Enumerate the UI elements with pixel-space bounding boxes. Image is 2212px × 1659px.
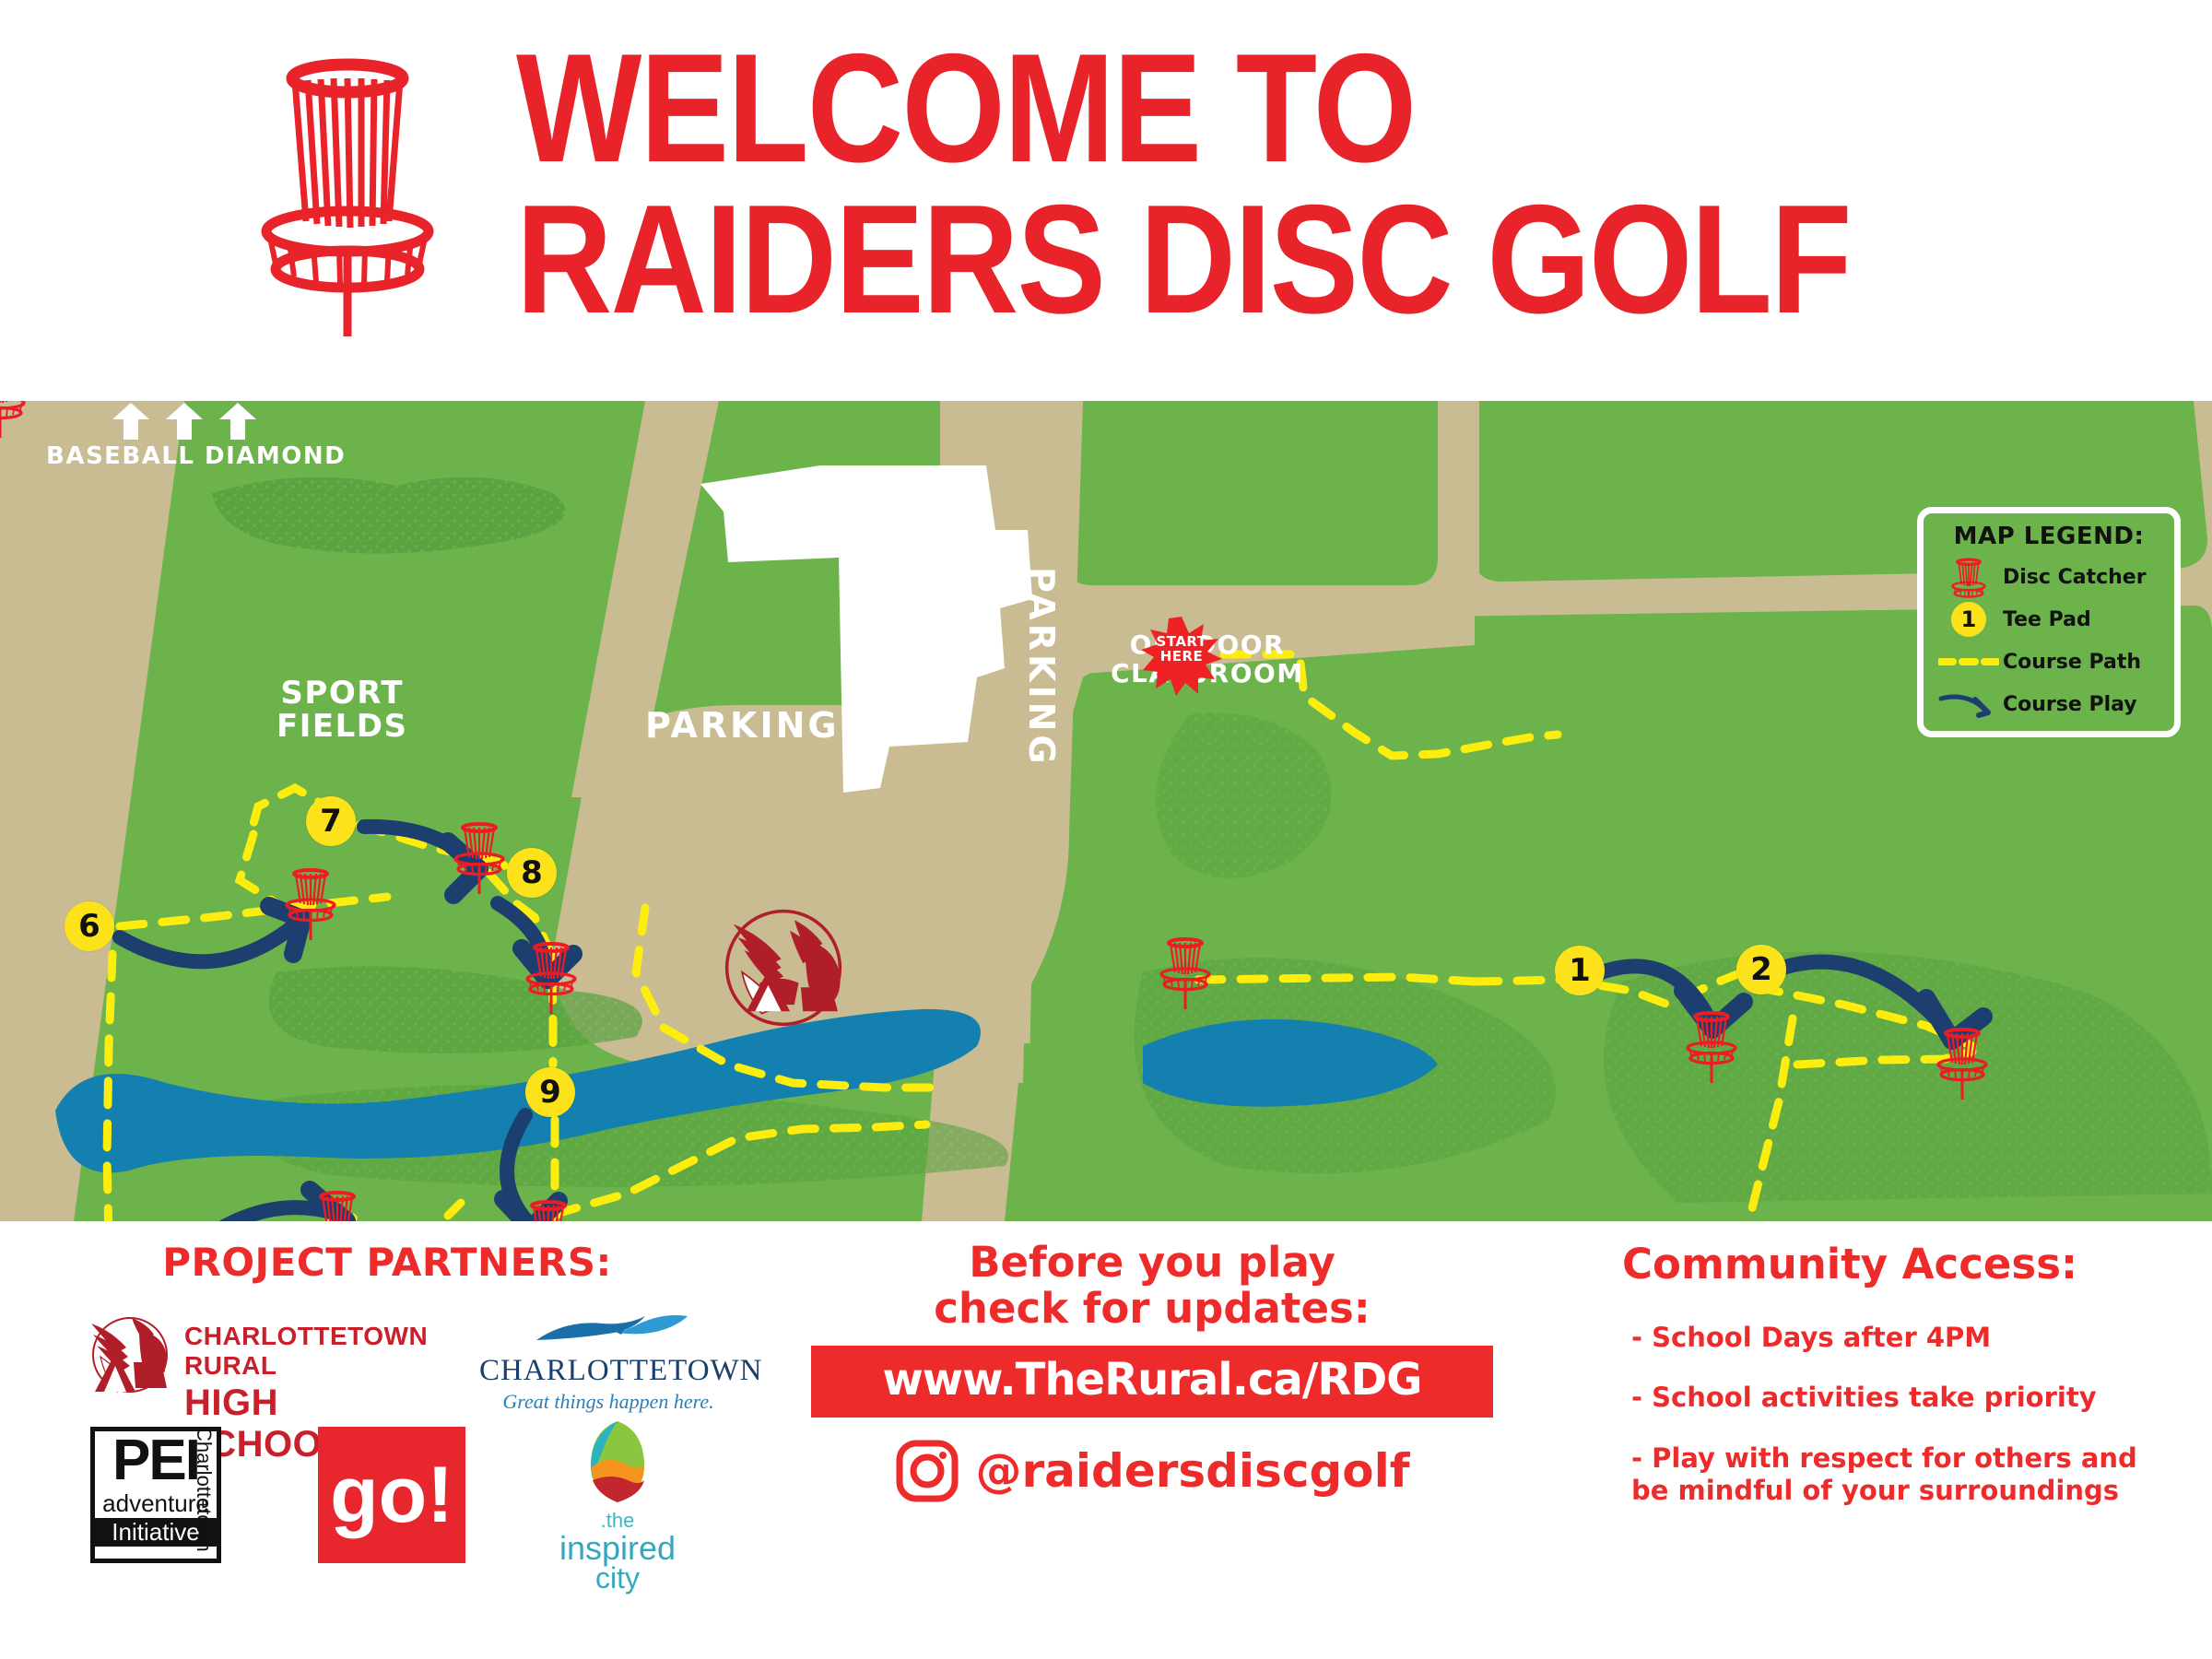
go-wordmark: go!: [318, 1427, 465, 1563]
legend-title: MAP LEGEND:: [1924, 523, 2174, 550]
tee-pad-9[interactable]: 9: [525, 1067, 575, 1117]
instagram-handle[interactable]: @raidersdiscgolf: [975, 1444, 1409, 1498]
inspired-city-mark-icon: [583, 1419, 652, 1504]
logo-go-charlottetown: go!: [318, 1427, 465, 1563]
poster-footer: PROJECT PARTNERS: CHARLOTTETO: [0, 1221, 2212, 1659]
course-map[interactable]: BASEBALL DIAMOND SPORT FIELDS PARKING PA…: [0, 401, 2212, 1221]
inspired-word: inspired: [525, 1533, 710, 1564]
go-charlottetown-vertical-label: Charlottetown: [192, 1427, 216, 1563]
inspired-city-word: city: [525, 1564, 710, 1592]
poster-header: WELCOME TO RAIDERS DISC GOLF: [0, 0, 2212, 401]
logo-the-inspired-city: .the inspired city: [525, 1419, 710, 1567]
tee-pad-7[interactable]: 7: [306, 796, 356, 846]
tee-pad-icon: 1: [1935, 602, 2003, 637]
legend-label-disc-catcher: Disc Catcher: [2003, 566, 2147, 589]
charlottetown-tagline: Great things happen here.: [479, 1390, 737, 1414]
instagram-row[interactable]: @raidersdiscgolf: [811, 1438, 1493, 1504]
legend-tee-number: 1: [1951, 602, 1986, 637]
course-path-icon: [1935, 655, 2003, 668]
community-rule-2: - School activities take priority: [1622, 1382, 2194, 1414]
disc-golf-basket-icon: [241, 51, 453, 346]
legend-row-course-path: Course Path: [1924, 641, 2174, 683]
partners-title: PROJECT PARTNERS:: [37, 1240, 737, 1285]
community-rule-3: - Play with respect for others and be mi…: [1622, 1442, 2194, 1508]
start-here-text: START HERE: [1141, 635, 1222, 665]
tee-pad-8[interactable]: 8: [507, 848, 557, 898]
community-access-title: Community Access:: [1622, 1240, 2194, 1288]
legend-row-tee-pad: 1 Tee Pad: [1924, 598, 2174, 641]
community-access-section: Community Access: - School Days after 4P…: [1622, 1240, 2194, 1535]
website-url-bar[interactable]: www.TheRural.ca/RDG: [811, 1346, 1493, 1418]
course-play-icon: [1935, 690, 2003, 718]
legend-label-course-path: Course Path: [2003, 651, 2141, 674]
logo-city-of-charlottetown: CHARLOTTETOWN Great things happen here.: [479, 1309, 737, 1410]
start-here-badge[interactable]: START HERE: [1141, 615, 1222, 696]
legend-label-course-play: Course Play: [2003, 693, 2137, 716]
disc-catcher-icon: [1935, 556, 2003, 598]
before-you-play-section: Before you play check for updates: www.T…: [811, 1240, 1493, 1504]
tee-pad-1[interactable]: 1: [1555, 946, 1605, 995]
poster-title: WELCOME TO RAIDERS DISC GOLF: [516, 35, 2175, 333]
instagram-icon[interactable]: [894, 1438, 960, 1504]
baseball-direction-arrows-icon: [111, 401, 276, 442]
project-partners-section: PROJECT PARTNERS: CHARLOTTETO: [37, 1240, 737, 1285]
tee-pad-2[interactable]: 2: [1736, 945, 1786, 994]
legend-row-course-play: Course Play: [1924, 683, 2174, 725]
tee-pad-6[interactable]: 6: [65, 901, 114, 951]
legend-row-disc-catcher: Disc Catcher: [1924, 556, 2174, 598]
legend-label-tee-pad: Tee Pad: [2003, 608, 2091, 631]
start-here-line-2: HERE: [1160, 648, 1204, 665]
logo-charlottetown-rural-high-school: CHARLOTTETOWN RURAL HIGH SCHOOL: [88, 1309, 447, 1406]
community-rule-1: - School Days after 4PM: [1622, 1322, 2194, 1354]
before-play-line-2: check for updates:: [811, 1286, 1493, 1332]
title-line-2: RAIDERS DISC GOLF: [516, 186, 1943, 334]
before-play-line-1: Before you play: [811, 1240, 1493, 1286]
charlottetown-bird-icon: [525, 1309, 691, 1349]
crhs-line-1: CHARLOTTETOWN RURAL: [184, 1322, 447, 1381]
title-line-1: WELCOME TO: [516, 35, 1943, 182]
map-legend: MAP LEGEND: Disc Catcher 1: [1917, 507, 2181, 737]
charlottetown-wordmark: CHARLOTTETOWN: [479, 1354, 737, 1388]
website-url[interactable]: www.TheRural.ca/RDG: [882, 1354, 1421, 1406]
crhs-hawk-icon: [88, 1309, 172, 1401]
